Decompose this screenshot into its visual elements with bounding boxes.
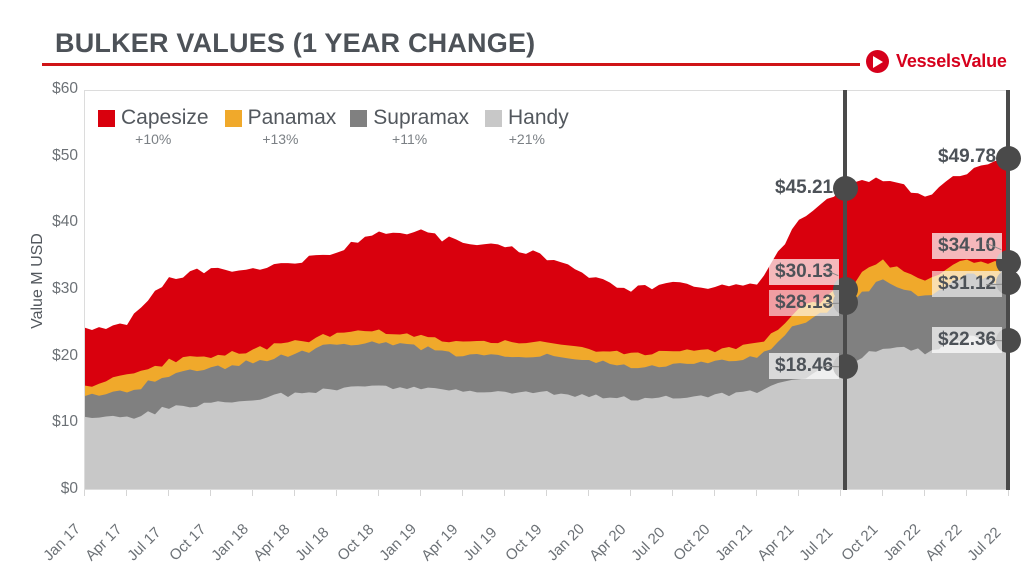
legend-row: Panamax [225, 106, 337, 130]
legend-change-percent: +11% [392, 131, 427, 147]
x-axis-gridmark [714, 490, 715, 496]
legend-swatch-icon [350, 110, 367, 127]
x-axis-gridmark [1008, 490, 1009, 496]
x-axis-tick: Jan 19 [376, 520, 420, 564]
x-axis-tick: Apr 20 [586, 521, 629, 564]
x-axis-tick: Oct 21 [838, 521, 881, 564]
brand-name: VesselsValue [896, 51, 1007, 72]
x-axis-tick: Jul 19 [460, 524, 500, 564]
vesselsvalue-triangle-logo-icon [866, 50, 889, 73]
x-axis-tick: Jan 21 [712, 520, 756, 564]
chart-legend: Capesize+10%Panamax+13%Supramax+11%Handy… [98, 106, 569, 147]
page-title: BULKER VALUES (1 YEAR CHANGE) [55, 28, 535, 59]
legend-row: Supramax [350, 106, 469, 130]
x-axis-tick: Oct 19 [502, 521, 545, 564]
legend-item-supramax[interactable]: Supramax+11% [350, 106, 469, 147]
legend-change-percent: +10% [135, 131, 171, 147]
y-axis-tick: $60 [24, 80, 78, 98]
title-underline [42, 63, 860, 66]
x-axis-tick: Jan 22 [880, 520, 924, 564]
brand-logo: VesselsValue [866, 50, 1007, 73]
legend-change-percent: +21% [509, 131, 545, 147]
x-axis-gridmark [336, 490, 337, 496]
x-axis-tick: Apr 17 [82, 521, 125, 564]
area-series-svg [85, 91, 1008, 490]
legend-swatch-icon [98, 110, 115, 127]
x-axis-gridmark [966, 490, 967, 496]
x-axis-tick: Apr 19 [418, 521, 461, 564]
legend-row: Capesize [98, 106, 209, 130]
x-axis-tick: Jan 18 [208, 520, 252, 564]
legend-item-panamax[interactable]: Panamax+13% [225, 106, 337, 147]
x-axis-tick: Jul 20 [628, 524, 668, 564]
x-axis-tick: Apr 18 [250, 521, 293, 564]
x-axis-gridmark [924, 490, 925, 496]
x-axis-gridmark [756, 490, 757, 496]
x-axis-tick: Jul 22 [964, 524, 1004, 564]
plot-area [84, 90, 1008, 490]
x-axis-gridmark [126, 490, 127, 496]
x-axis-ticks: Jan 17Apr 17Jul 17Oct 17Jan 18Apr 18Jul … [84, 490, 1008, 577]
y-axis-tick: $50 [24, 147, 78, 165]
x-axis-gridmark [84, 490, 85, 496]
x-axis-gridmark [672, 490, 673, 496]
x-axis-gridmark [168, 490, 169, 496]
x-axis-gridmark [294, 490, 295, 496]
x-axis-gridmark [882, 490, 883, 496]
chart-page: BULKER VALUES (1 YEAR CHANGE) VesselsVal… [0, 0, 1036, 577]
x-axis-tick: Oct 18 [334, 521, 377, 564]
y-axis-ticks: $60$50$40$30$20$10$0 [24, 0, 78, 577]
legend-label: Panamax [248, 106, 337, 130]
x-axis-gridmark [378, 490, 379, 496]
y-axis-tick: $20 [24, 347, 78, 365]
x-axis-tick: Jan 20 [544, 520, 588, 564]
leader-line [986, 283, 1002, 284]
x-axis-tick: Apr 21 [754, 521, 797, 564]
x-axis-tick: Jul 21 [796, 524, 836, 564]
x-axis-gridmark [546, 490, 547, 496]
y-axis-tick: $10 [24, 413, 78, 431]
x-axis-gridmark [420, 490, 421, 496]
legend-change-percent: +13% [262, 131, 298, 147]
x-axis-tick: Jul 17 [124, 524, 164, 564]
value-label-one-year-ago-capesize: $45.21 [769, 175, 839, 201]
x-axis-gridmark [798, 490, 799, 496]
x-axis-tick: Oct 20 [670, 521, 713, 564]
x-axis-tick: Apr 22 [922, 521, 965, 564]
legend-row: Handy [485, 106, 569, 130]
y-axis-tick: $30 [24, 280, 78, 298]
y-axis-tick: $0 [24, 480, 78, 498]
legend-label: Supramax [373, 106, 469, 130]
legend-swatch-icon [485, 110, 502, 127]
x-axis-gridmark [210, 490, 211, 496]
legend-label: Handy [508, 106, 569, 130]
legend-label: Capesize [121, 106, 209, 130]
legend-swatch-icon [225, 110, 242, 127]
x-axis-gridmark [462, 490, 463, 496]
legend-item-handy[interactable]: Handy+21% [485, 106, 569, 147]
x-axis-gridmark [630, 490, 631, 496]
x-axis-gridmark [840, 490, 841, 496]
x-axis-tick: Oct 17 [166, 521, 209, 564]
legend-item-capesize[interactable]: Capesize+10% [98, 106, 209, 147]
y-axis-tick: $40 [24, 213, 78, 231]
x-axis-gridmark [504, 490, 505, 496]
chart-header: BULKER VALUES (1 YEAR CHANGE) VesselsVal… [0, 0, 1036, 88]
x-axis-gridmark [252, 490, 253, 496]
x-axis-gridmark [588, 490, 589, 496]
x-axis-tick: Jul 18 [292, 524, 332, 564]
value-label-current-capesize: $49.78 [932, 144, 1002, 170]
